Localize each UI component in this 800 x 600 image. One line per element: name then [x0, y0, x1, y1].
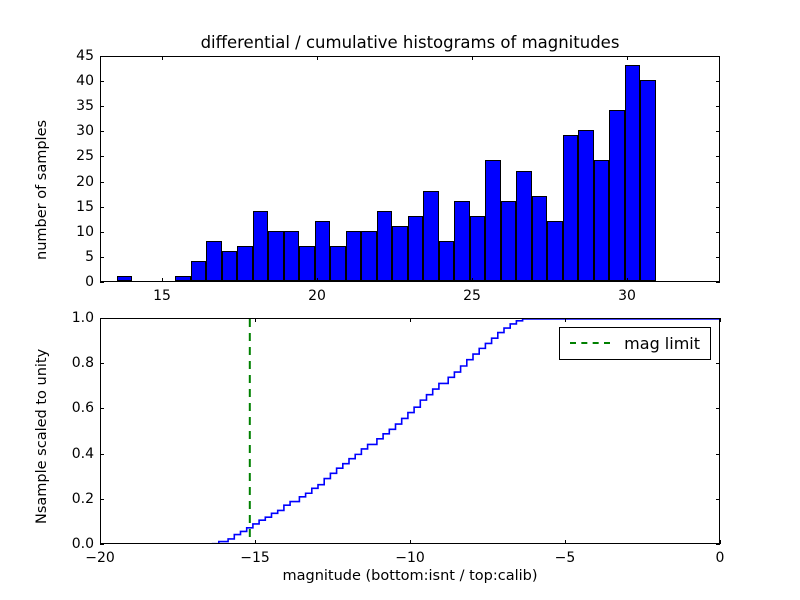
y-tick-mark — [100, 56, 104, 57]
histogram-bar — [563, 135, 579, 281]
y-tick-label: 20 — [46, 174, 94, 190]
y-tick-mark — [100, 257, 104, 258]
histogram-bar — [532, 196, 548, 281]
y-tick-mark — [716, 106, 720, 107]
histogram-bar — [253, 211, 269, 281]
y-tick-label: 0.6 — [44, 400, 94, 416]
x-tick-mark — [565, 540, 566, 544]
differential-histogram-axes — [100, 56, 720, 282]
y-tick-label: 0 — [46, 274, 94, 290]
cumulative-histogram-axes: mag limit — [100, 318, 720, 544]
y-tick-mark — [100, 499, 104, 500]
histogram-bar — [516, 171, 532, 281]
histogram-bar — [408, 216, 424, 281]
y-tick-mark — [716, 131, 720, 132]
x-tick-mark — [627, 56, 628, 60]
y-tick-label: 0.0 — [44, 536, 94, 552]
x-tick-mark — [255, 540, 256, 544]
x-tick-label: 20 — [308, 288, 326, 304]
y-tick-label: 0.8 — [44, 355, 94, 371]
x-tick-mark — [410, 318, 411, 322]
x-tick-mark — [720, 318, 721, 322]
histogram-bar — [315, 221, 331, 281]
y-tick-mark — [716, 318, 720, 319]
histogram-bar — [640, 80, 656, 281]
y-tick-mark — [100, 544, 104, 545]
y-tick-mark — [716, 282, 720, 283]
histogram-bar — [299, 246, 315, 281]
y-tick-mark — [100, 207, 104, 208]
y-tick-label: 1.0 — [44, 310, 94, 326]
legend-entry-mag-limit: mag limit — [624, 334, 700, 353]
histogram-bar — [625, 65, 641, 281]
x-tick-mark — [565, 318, 566, 322]
y-tick-mark — [100, 106, 104, 107]
x-tick-mark — [472, 278, 473, 282]
histogram-bar — [578, 130, 594, 281]
y-tick-mark — [100, 182, 104, 183]
y-tick-mark — [100, 363, 104, 364]
x-tick-mark — [720, 540, 721, 544]
y-tick-label: 0.4 — [44, 446, 94, 462]
y-tick-mark — [100, 156, 104, 157]
histogram-bar — [470, 216, 486, 281]
y-tick-mark — [716, 257, 720, 258]
histogram-bar — [346, 231, 362, 281]
x-tick-label: −20 — [85, 550, 115, 566]
histogram-bar — [175, 276, 191, 281]
x-tick-mark — [162, 56, 163, 60]
chart-title: differential / cumulative histograms of … — [100, 33, 720, 52]
y-tick-mark — [716, 363, 720, 364]
x-tick-mark — [472, 56, 473, 60]
y-tick-label: 40 — [46, 73, 94, 89]
x-tick-mark — [162, 278, 163, 282]
y-tick-label: 5 — [46, 249, 94, 265]
histogram-bar — [117, 276, 133, 281]
y-tick-mark — [100, 282, 104, 283]
figure-canvas: differential / cumulative histograms of … — [0, 0, 800, 600]
y-tick-mark — [100, 232, 104, 233]
histogram-bar — [268, 231, 284, 281]
y-tick-label: 45 — [46, 48, 94, 64]
x-tick-mark — [410, 540, 411, 544]
y-tick-label: 30 — [46, 123, 94, 139]
histogram-plot-area — [101, 57, 719, 281]
y-tick-label: 10 — [46, 224, 94, 240]
histogram-bar — [284, 231, 300, 281]
x-tick-mark — [255, 318, 256, 322]
y-tick-mark — [716, 454, 720, 455]
y-tick-mark — [100, 318, 104, 319]
histogram-bar — [361, 231, 377, 281]
histogram-bar — [594, 160, 610, 281]
y-tick-mark — [716, 156, 720, 157]
y-tick-mark — [716, 408, 720, 409]
y-tick-mark — [716, 544, 720, 545]
histogram-bar — [454, 201, 470, 281]
y-tick-mark — [100, 408, 104, 409]
y-tick-mark — [716, 232, 720, 233]
y-tick-mark — [716, 207, 720, 208]
x-tick-label: 25 — [463, 288, 481, 304]
x-tick-label: 0 — [716, 550, 725, 566]
histogram-bar — [423, 191, 439, 281]
y-tick-label: 15 — [46, 199, 94, 215]
y-tick-label: 35 — [46, 98, 94, 114]
y-tick-mark — [100, 81, 104, 82]
x-tick-mark — [317, 278, 318, 282]
histogram-bar — [485, 160, 501, 281]
y-tick-label: 0.2 — [44, 491, 94, 507]
y-tick-mark — [716, 499, 720, 500]
legend-box[interactable]: mag limit — [559, 327, 711, 360]
mag-limit-line-icon — [570, 342, 610, 346]
histogram-bar — [330, 246, 346, 281]
y-tick-label: 25 — [46, 148, 94, 164]
histogram-bar — [501, 201, 517, 281]
y-tick-mark — [716, 81, 720, 82]
x-tick-label: −10 — [395, 550, 425, 566]
y-tick-mark — [716, 182, 720, 183]
histogram-bar — [206, 241, 222, 281]
y-tick-mark — [100, 454, 104, 455]
x-tick-label: −15 — [240, 550, 270, 566]
histogram-bar — [392, 226, 408, 281]
histogram-bar — [237, 246, 253, 281]
histogram-bar — [191, 261, 207, 281]
x-tick-label: 30 — [618, 288, 636, 304]
y-tick-mark — [716, 56, 720, 57]
x-tick-mark — [317, 56, 318, 60]
histogram-bar — [609, 110, 625, 281]
histogram-bar — [439, 241, 455, 281]
x-tick-mark — [627, 278, 628, 282]
y-tick-mark — [100, 131, 104, 132]
x-tick-label: 15 — [153, 288, 171, 304]
x-tick-label: −5 — [555, 550, 576, 566]
histogram-bar — [547, 221, 563, 281]
histogram-bar — [377, 211, 393, 281]
histogram-bar — [222, 251, 238, 281]
bottom-axis-x-label: magnitude (bottom:isnt / top:calib) — [100, 568, 720, 584]
